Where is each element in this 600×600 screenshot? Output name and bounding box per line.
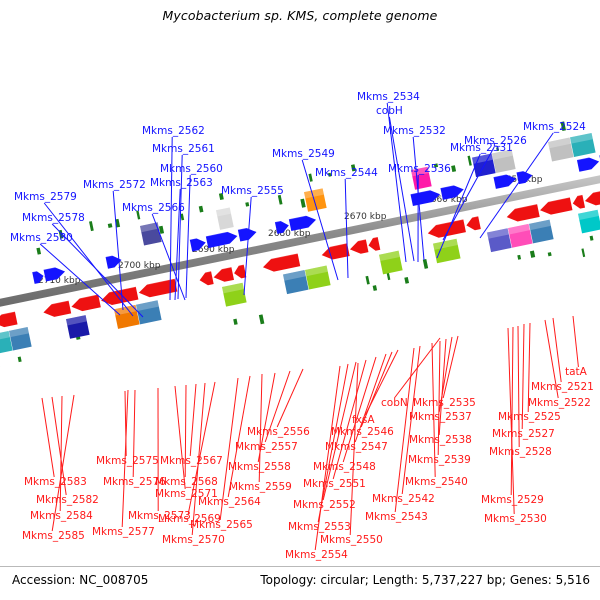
gene-label[interactable]: Mkms_2579 [14,191,77,203]
gene-label[interactable]: Mkms_2544 [315,167,378,179]
reverse-gene-arrow[interactable] [367,237,380,252]
small-feature-tick [365,276,369,285]
gene-leader-line [190,384,196,456]
small-feature-tick [581,248,585,257]
reverse-gene-labels[interactable]: Mkms_2585Mkms_2584Mkms_2582Mkms_2583Mkms… [22,366,594,561]
gene-label[interactable]: Mkms_2555 [221,185,284,197]
small-feature-tick [199,206,204,213]
accession-text: Accession: NC_008705 [12,573,148,587]
gene-label[interactable]: Mkms_2530 [484,513,547,525]
gene-label[interactable]: Mkms_2521 [531,381,594,393]
gene-label[interactable]: Mkms_2575 [96,455,159,467]
genome-map-canvas[interactable]: 2650 kbp2660 kbp2670 kbp2680 kbp2690 kbp… [0,0,600,600]
gene-leader-line [244,197,251,295]
gene-label[interactable]: Mkms_2570 [162,534,225,546]
reverse-gene-arrow[interactable] [212,267,234,284]
gene-label[interactable]: Mkms_2557 [235,441,298,453]
footer-divider [0,566,600,567]
gene-label[interactable]: Mkms_2566 [122,202,185,214]
gene-label[interactable]: Mkms_2584 [30,510,93,522]
small-feature-tick [89,221,94,231]
small-feature-tick [108,223,113,228]
gene-label[interactable]: Mkms_2539 [408,454,471,466]
gene-label[interactable]: Mkms_2567 [160,455,223,467]
gene-label[interactable]: Mkms_2558 [228,461,291,473]
gene-label[interactable]: cobN [381,397,408,409]
small-feature-tick [259,314,265,324]
gene-label[interactable]: Mkms_2548 [313,461,376,473]
gene-label[interactable]: Mkms_2538 [409,434,472,446]
gene-leader-line [42,398,54,477]
gene-label[interactable]: Mkms_2568 [155,476,218,488]
gene-label[interactable]: Mkms_2536 [388,163,451,175]
gene-label[interactable]: Mkms_2537 [409,411,472,423]
gene-label[interactable]: Mkms_2565 [190,519,253,531]
gene-label[interactable]: Mkms_2543 [365,511,428,523]
gene-label[interactable]: Mkms_2563 [150,177,213,189]
reverse-gene-arrow[interactable] [572,195,586,210]
reverse-gene-arrow[interactable] [349,239,369,255]
axis-tick-label: 2670 kbp [344,212,387,222]
reverse-gene-arrow[interactable] [465,216,481,231]
gene-leader-line [573,316,578,367]
gene-label[interactable]: Mkms_2542 [372,493,435,505]
gene-label[interactable]: Mkms_2525 [498,411,561,423]
small-feature-tick [548,252,552,256]
gene-label[interactable]: Mkms_2562 [142,125,205,137]
gene-label[interactable]: Mkms_2532 [383,125,446,137]
genome-map-viewer: Mycobacterium sp. KMS, complete genome 2… [0,0,600,600]
gene-label[interactable]: cobH [376,105,403,117]
small-feature-tick [517,255,521,260]
gene-leader-line [175,386,185,489]
small-feature-tick [373,285,377,291]
gene-label[interactable]: Mkms_2547 [325,441,388,453]
small-feature-tick [300,199,305,208]
axis-tick-label: 2700 kbp [118,261,161,271]
gene-label[interactable]: tatA [565,366,588,378]
gene-label[interactable]: Mkms_2535 [413,397,476,409]
gene-label[interactable]: Mkms_2554 [285,549,348,561]
gene-label[interactable]: Mkms_2577 [92,526,155,538]
reverse-gene-arrow[interactable] [198,271,213,286]
small-feature-tick [423,259,428,269]
gene-leader-line [389,117,414,261]
gene-label[interactable]: Mkms_2583 [24,476,87,488]
small-feature-tick [245,202,249,207]
gene-label[interactable]: Mkms_2551 [303,478,366,490]
gene-label[interactable]: Mkms_2585 [22,530,85,542]
gene-label[interactable]: Mkms_2559 [229,481,292,493]
gene-label[interactable]: Mkms_2560 [160,163,223,175]
small-feature-tick [36,248,41,255]
gene-label[interactable]: Mkms_2553 [288,521,351,533]
gene-label[interactable]: Mkms_2528 [489,446,552,458]
gene-label[interactable]: Mkms_2572 [83,179,146,191]
gene-label[interactable]: Mkms_2527 [492,428,555,440]
gene-label[interactable]: Mkms_2522 [528,397,591,409]
axis-tick-label: 2680 kbp [268,229,311,239]
gene-label[interactable]: Mkms_2564 [198,496,261,508]
gene-label[interactable]: Mkms_2550 [320,534,383,546]
small-feature-tick [233,319,237,325]
gene-label[interactable]: Mkms_2546 [331,426,394,438]
small-feature-tick [404,277,409,284]
reverse-strand-track[interactable] [0,186,600,329]
gene-label[interactable]: Mkms_2540 [405,476,468,488]
gene-label[interactable]: Mkms_2582 [36,494,99,506]
gene-label[interactable]: Mkms_2552 [293,499,356,511]
gene-label[interactable]: Mkms_2580 [10,232,73,244]
gene-label[interactable]: Mkms_2526 [464,135,527,147]
small-feature-tick [590,236,594,241]
small-feature-tick [308,174,312,182]
gene-label[interactable]: Mkms_2556 [247,426,310,438]
reverse-gene-arrow[interactable] [233,265,247,280]
small-feature-tick [530,251,535,258]
gene-label[interactable]: Mkms_2578 [22,212,85,224]
small-feature-tick [451,165,456,172]
gene-label[interactable]: Mkms_2534 [357,91,420,103]
gene-label[interactable]: Mkms_2524 [523,121,586,133]
gene-label[interactable]: Mkms_2561 [152,143,215,155]
genome-summary-text: Topology: circular; Length: 5,737,227 bp… [260,573,590,587]
small-feature-tick [18,356,22,362]
gene-label[interactable]: Mkms_2549 [272,148,335,160]
axis-tick-label: 2710 kbp [38,276,81,286]
gene-label[interactable]: fxsA [352,414,375,426]
small-feature-tick [467,156,471,166]
gene-label[interactable]: Mkms_2529 [481,494,544,506]
